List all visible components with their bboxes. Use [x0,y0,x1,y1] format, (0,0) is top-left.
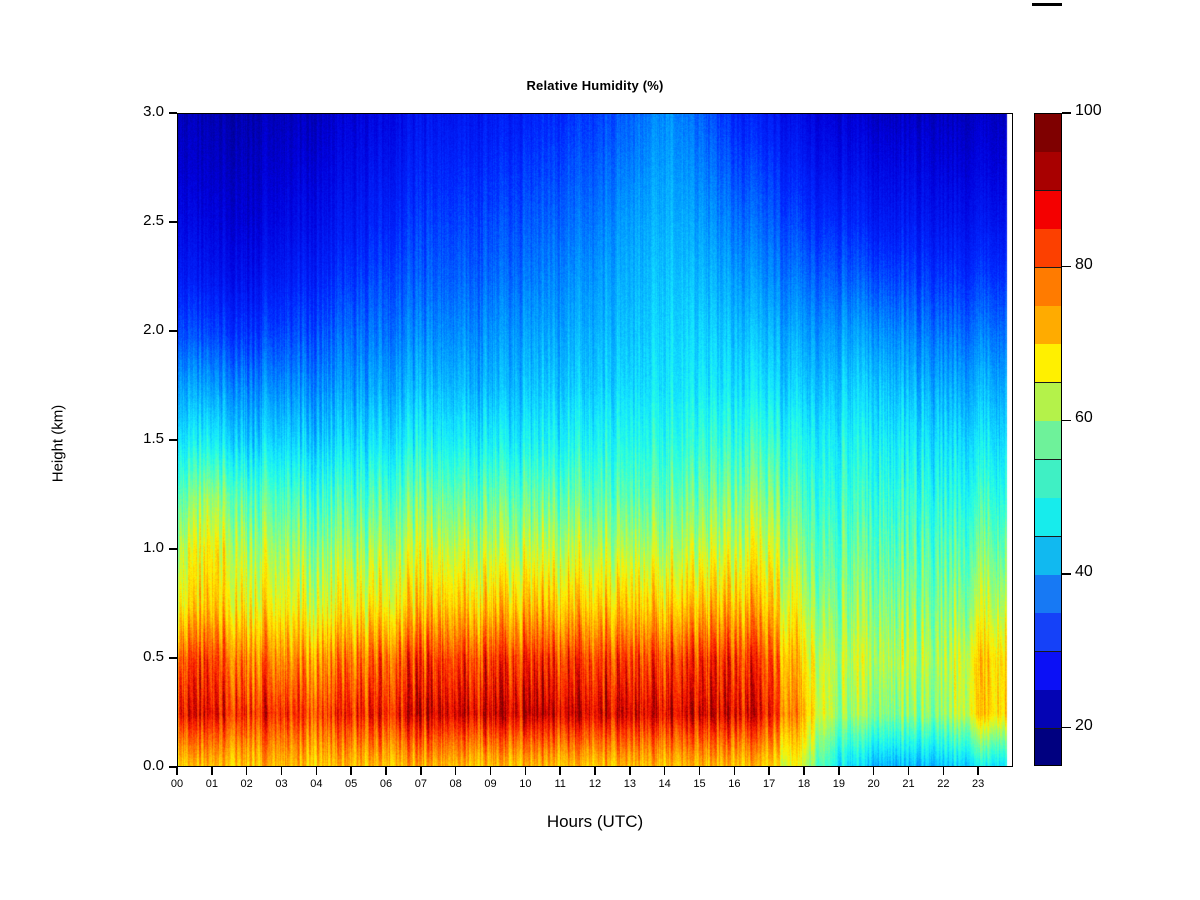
x-tick-mark [211,767,212,775]
x-tick-mark [559,767,560,775]
y-tick-label: 2.0 [143,321,164,338]
x-tick-label: 10 [508,778,542,790]
x-tick-label: 22 [926,778,960,790]
x-tick-mark [699,767,700,775]
colorbar-tick-mark [1062,727,1071,728]
x-tick-mark [734,767,735,775]
colorbar-block [1035,306,1061,345]
x-tick-mark [768,767,769,775]
x-tick-label: 15 [683,778,717,790]
colorbar [1034,113,1062,766]
colorbar-block [1035,191,1061,230]
colorbar-block [1035,575,1061,614]
x-tick-mark [385,767,386,775]
x-tick-label: 05 [334,778,368,790]
colorbar-block [1035,268,1061,307]
colorbar-block [1035,613,1061,652]
x-tick-label: 01 [195,778,229,790]
x-tick-label: 08 [439,778,473,790]
x-tick-mark [629,767,630,775]
x-tick-mark [943,767,944,775]
x-axis-label: Hours (UTC) [177,812,1013,832]
x-tick-mark [873,767,874,775]
x-tick-label: 11 [543,778,577,790]
x-tick-mark [246,767,247,775]
y-axis-label: Height (km) [50,359,67,529]
y-tick-mark [169,657,177,658]
x-tick-label: 17 [752,778,786,790]
x-tick-mark [350,767,351,775]
y-tick-label: 1.5 [143,430,164,447]
x-tick-label: 14 [648,778,682,790]
x-tick-mark [316,767,317,775]
y-tick-mark [169,221,177,222]
x-tick-label: 20 [857,778,891,790]
colorbar-block [1035,421,1061,460]
colorbar-tick-label: 20 [1075,717,1093,735]
colorbar-tick-label: 40 [1075,563,1093,581]
x-tick-label: 12 [578,778,612,790]
x-tick-label: 07 [404,778,438,790]
y-tick-label: 0.0 [143,757,164,774]
y-tick-mark [169,112,177,113]
colorbar-tick-label: 80 [1075,256,1093,274]
colorbar-tick-mark [1062,112,1071,113]
y-tick-label: 0.5 [143,648,164,665]
page-title: Relative Humidity (%) [177,78,1013,93]
x-tick-mark [525,767,526,775]
x-tick-mark [176,767,177,775]
colorbar-block [1035,229,1061,268]
y-tick-mark [169,330,177,331]
colorbar-block [1035,537,1061,576]
colorbar-block [1035,729,1061,766]
colorbar-block [1035,152,1061,191]
x-tick-label: 18 [787,778,821,790]
y-tick-label: 3.0 [143,103,164,120]
x-tick-label: 03 [265,778,299,790]
x-tick-mark [594,767,595,775]
y-tick-label: 1.0 [143,539,164,556]
x-tick-label: 02 [230,778,264,790]
x-tick-mark [420,767,421,775]
x-tick-label: 09 [474,778,508,790]
colorbar-tick-mark [1062,573,1071,574]
x-tick-label: 00 [160,778,194,790]
x-tick-label: 21 [892,778,926,790]
x-tick-label: 06 [369,778,403,790]
colorbar-block [1035,690,1061,729]
colorbar-block [1035,114,1061,153]
x-tick-mark [664,767,665,775]
x-tick-label: 04 [299,778,333,790]
colorbar-tick-mark [1062,420,1071,421]
y-tick-mark [169,548,177,549]
colorbar-block [1035,498,1061,537]
x-tick-mark [281,767,282,775]
heatmap-plot-area [177,113,1013,767]
colorbar-tick-label: 100 [1075,102,1102,120]
y-tick-label: 2.5 [143,212,164,229]
x-tick-mark [455,767,456,775]
x-tick-mark [803,767,804,775]
x-tick-mark [838,767,839,775]
top-edge-artifact [1032,3,1062,6]
colorbar-block [1035,344,1061,383]
x-tick-mark [490,767,491,775]
colorbar-block [1035,652,1061,691]
colorbar-block [1035,460,1061,499]
colorbar-block [1035,383,1061,422]
x-tick-label: 13 [613,778,647,790]
x-tick-label: 23 [961,778,995,790]
colorbar-tick-label: 60 [1075,409,1093,427]
x-tick-mark [908,767,909,775]
colorbar-tick-mark [1062,266,1071,267]
heatmap-image [178,114,1013,767]
y-tick-mark [169,439,177,440]
x-tick-label: 19 [822,778,856,790]
x-tick-label: 16 [717,778,751,790]
x-tick-mark [977,767,978,775]
